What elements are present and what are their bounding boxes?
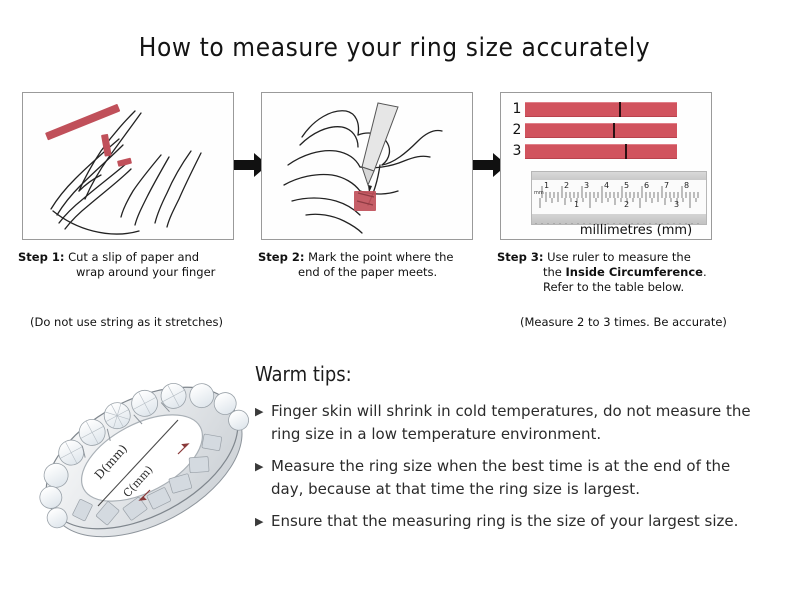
ruler-cm-scale: mm 1 2 3 4 5 6 7 8 bbox=[532, 180, 706, 198]
step-3-line2-prefix: the bbox=[543, 265, 566, 279]
step-2-caption: Step 2: Mark the point where the end of … bbox=[258, 250, 493, 280]
step-1-caption: Step 1: Cut a slip of paper and wrap aro… bbox=[18, 250, 253, 280]
cm-tick-7: 7 bbox=[664, 181, 669, 190]
inside-circumference-emphasis: Inside Circumference bbox=[566, 265, 703, 279]
tip-text: Ensure that the measuring ring is the si… bbox=[271, 510, 765, 533]
tip-item: ▶ Finger skin will shrink in cold temper… bbox=[255, 400, 765, 446]
inch-tick-3: 3 bbox=[674, 200, 679, 209]
paper-strip-samples: 1 2 3 bbox=[509, 101, 705, 164]
steps-row: 1 2 3 mm bbox=[0, 92, 789, 332]
tip-item: ▶ Ensure that the measuring ring is the … bbox=[255, 510, 765, 533]
strip-mark-1 bbox=[619, 102, 621, 117]
ruler-top-edge bbox=[532, 172, 706, 180]
paper-strip-3 bbox=[525, 144, 677, 159]
strip-mark-2 bbox=[613, 123, 615, 138]
tip-text: Measure the ring size when the best time… bbox=[271, 455, 765, 501]
strip-row: 1 bbox=[509, 101, 705, 117]
inch-tick-2: 2 bbox=[624, 200, 629, 209]
cm-tick-2: 2 bbox=[564, 181, 569, 190]
step-3-label: Step 3: bbox=[497, 250, 543, 264]
warm-tips-section: Warm tips: ▶ Finger skin will shrink in … bbox=[255, 362, 765, 542]
step-3-line3: Refer to the table below. bbox=[543, 280, 742, 295]
step-1-line1: Cut a slip of paper and bbox=[68, 250, 199, 264]
cm-tick-8: 8 bbox=[684, 181, 689, 190]
ruler-graphic: mm 1 2 3 4 5 6 7 8 bbox=[531, 171, 707, 225]
step-1-line2: wrap around your finger bbox=[76, 265, 253, 280]
bullet-triangle-icon: ▶ bbox=[255, 455, 271, 478]
strip-row: 3 bbox=[509, 143, 705, 159]
step-2-label: Step 2: bbox=[258, 250, 304, 264]
hand-marking-paper-with-pen-icon bbox=[262, 93, 472, 239]
infographic-page: How to measure your ring size accurately bbox=[0, 0, 789, 606]
paper-strip-1 bbox=[525, 102, 677, 117]
page-title: How to measure your ring size accurately bbox=[0, 33, 789, 63]
ruler-inch-scale: 1 2 3 bbox=[532, 198, 706, 214]
step-3-note: (Measure 2 to 3 times. Be accurate) bbox=[520, 315, 727, 329]
step-3-line2-tail: . bbox=[703, 265, 707, 279]
step-1-label: Step 1: bbox=[18, 250, 64, 264]
tip-item: ▶ Measure the ring size when the best ti… bbox=[255, 455, 765, 501]
cm-tick-3: 3 bbox=[584, 181, 589, 190]
step-2-illustration-panel bbox=[261, 92, 473, 240]
step-2-line2: end of the paper meets. bbox=[298, 265, 493, 280]
strip-number: 1 bbox=[509, 101, 525, 117]
tip-text: Finger skin will shrink in cold temperat… bbox=[271, 400, 765, 446]
inch-tick-1: 1 bbox=[574, 200, 579, 209]
cm-tick-6: 6 bbox=[644, 181, 649, 190]
paper-strip-2 bbox=[525, 123, 677, 138]
warm-tips-heading: Warm tips: bbox=[255, 362, 765, 386]
strip-row: 2 bbox=[509, 122, 705, 138]
strip-number: 3 bbox=[509, 143, 525, 159]
ruler-unit-caption: millimetres (mm) bbox=[561, 223, 711, 238]
hand-with-paper-strip-icon bbox=[23, 93, 233, 239]
step-3-line1: Use ruler to measure the bbox=[547, 250, 691, 264]
step-1-illustration-panel bbox=[22, 92, 234, 240]
diamond-eternity-ring-diagram-icon: D(mm) C(mm) bbox=[28, 358, 256, 558]
step-3-illustration-panel: 1 2 3 mm bbox=[500, 92, 712, 240]
strip-number: 2 bbox=[509, 122, 525, 138]
ring-diagram: D(mm) C(mm) bbox=[28, 358, 256, 558]
step-3-caption: Step 3: Use ruler to measure the the Ins… bbox=[497, 250, 742, 295]
cm-tick-1: 1 bbox=[544, 181, 549, 190]
cm-tick-5: 5 bbox=[624, 181, 629, 190]
strip-mark-3 bbox=[625, 144, 627, 159]
bullet-triangle-icon: ▶ bbox=[255, 510, 271, 533]
step-2-line1: Mark the point where the bbox=[308, 250, 453, 264]
step-1-note: (Do not use string as it stretches) bbox=[30, 315, 223, 329]
cm-tick-4: 4 bbox=[604, 181, 609, 190]
bullet-triangle-icon: ▶ bbox=[255, 400, 271, 423]
